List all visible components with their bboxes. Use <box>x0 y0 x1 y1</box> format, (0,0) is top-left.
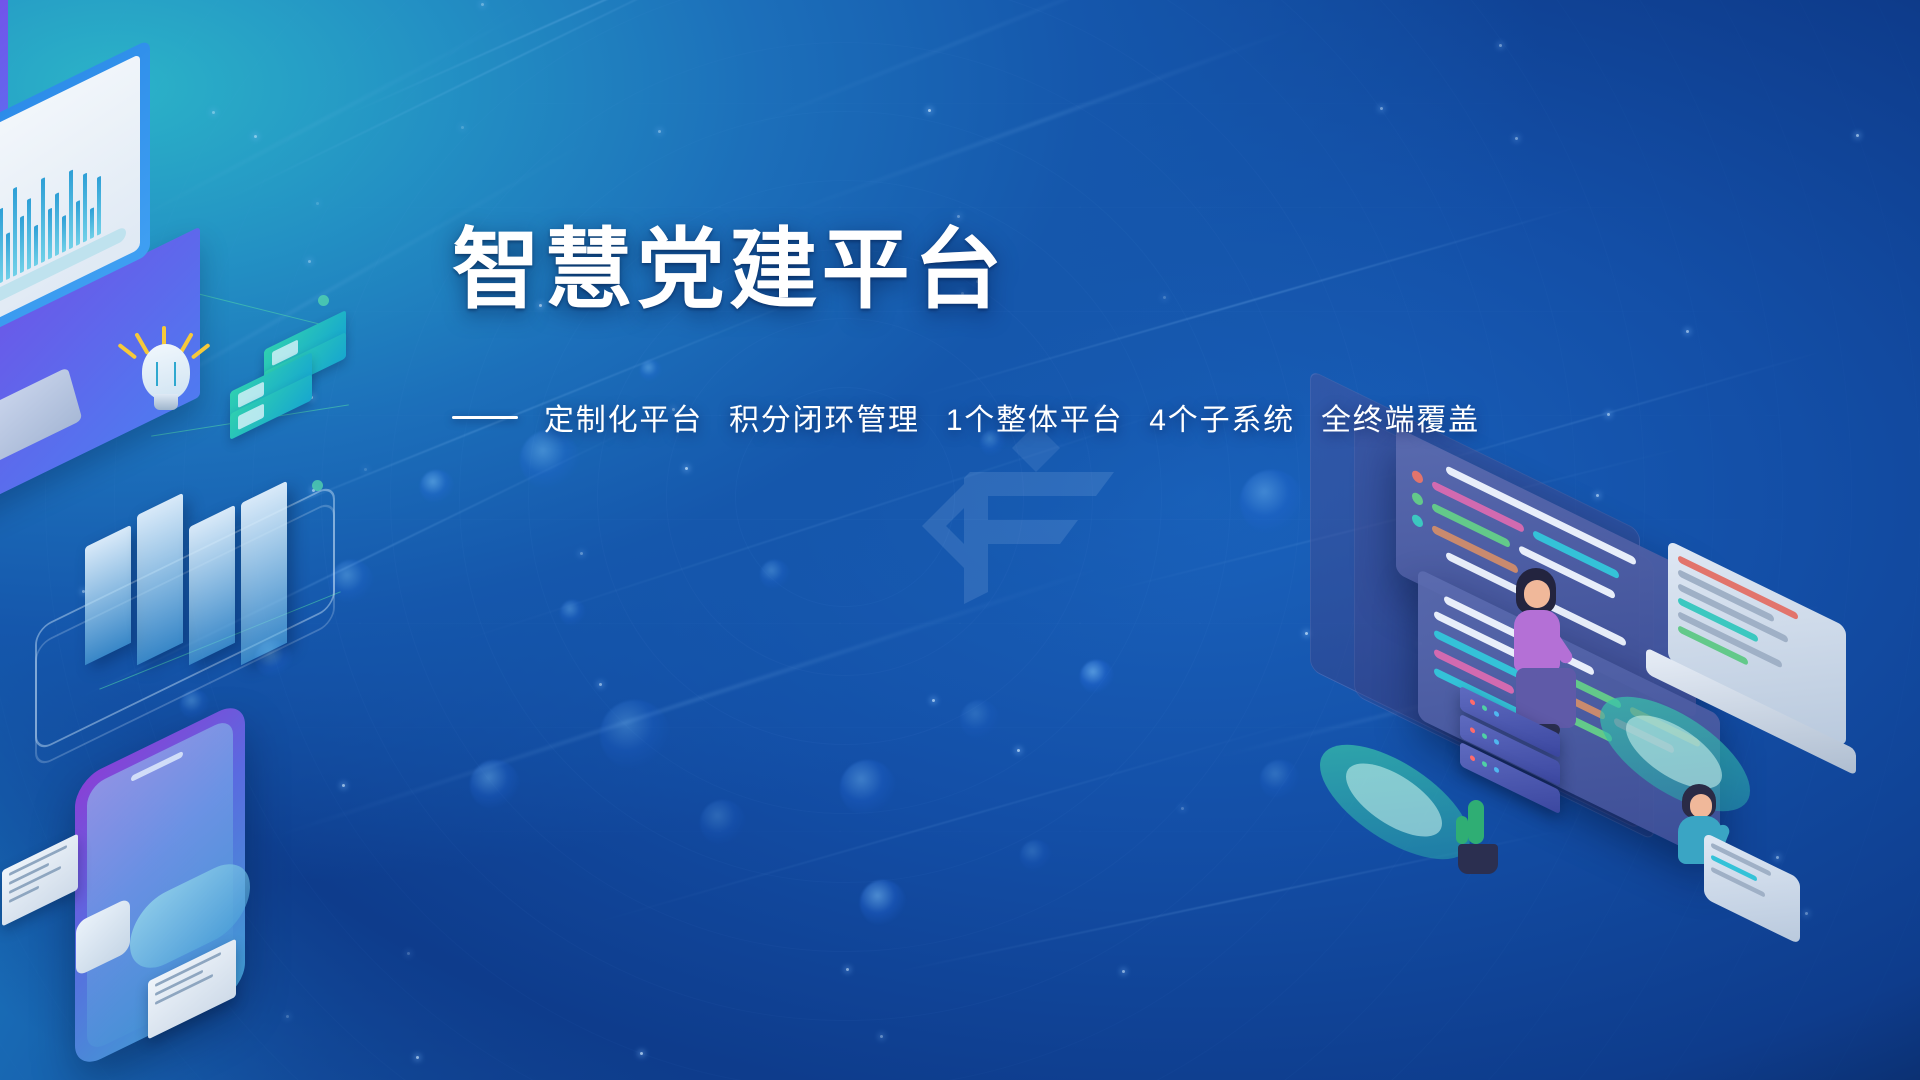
circuit-line <box>99 591 340 689</box>
round-platform <box>1600 673 1750 834</box>
spark-dot <box>957 215 960 218</box>
spark-dot <box>364 468 367 471</box>
dashboard-backdrop <box>1354 415 1654 841</box>
monitor-bar <box>97 176 101 236</box>
round-platform <box>1320 721 1470 882</box>
monitor-bar <box>27 198 31 270</box>
bokeh-dot <box>560 600 586 626</box>
spark-dot <box>1596 494 1599 497</box>
radar-ring <box>114 0 1576 1080</box>
laptop-keyboard <box>1646 647 1856 775</box>
spark-dot <box>1776 856 1779 859</box>
circuit-node <box>318 295 329 306</box>
monitor-bar <box>6 232 10 280</box>
isometric-bar-chart <box>35 480 355 730</box>
subtitle-item-2: 1个整体平台 <box>946 404 1123 437</box>
monitor-bar <box>13 187 17 277</box>
spark-dot <box>461 126 464 129</box>
spark-dot <box>316 202 319 205</box>
monitor-stand <box>0 367 82 493</box>
light-streak <box>213 0 807 206</box>
light-streak <box>342 0 818 117</box>
monitor-bar <box>62 215 66 253</box>
bokeh-dot <box>840 760 896 816</box>
bokeh-glow-dots <box>0 0 1920 1080</box>
bokeh-dot <box>330 560 374 604</box>
server-rack <box>1460 714 1560 787</box>
monitor-bar <box>69 169 73 249</box>
light-streak <box>1209 603 1831 761</box>
spark-dot <box>1515 137 1518 140</box>
bokeh-dot <box>180 690 210 720</box>
illustration-right <box>1300 380 1920 1080</box>
spark-dot <box>880 1035 883 1038</box>
light-streak <box>262 561 1119 842</box>
banner-stage: 智慧党建平台 定制化平台积分闭环管理1个整体平台4个子系统全终端覆盖 <box>0 0 1920 1080</box>
bokeh-dot <box>760 560 790 590</box>
spark-dot <box>286 1015 289 1018</box>
bokeh-dot <box>255 640 293 678</box>
radar-ring <box>321 0 1369 1021</box>
monitor-bar <box>90 207 94 239</box>
light-streak <box>718 0 1201 140</box>
radar-ring <box>45 0 1645 1080</box>
spark-dot <box>1856 134 1859 137</box>
spark-dot <box>82 590 85 593</box>
monitor-bar-chart <box>0 124 101 314</box>
mobile-phone <box>75 699 245 1072</box>
round-platform-inner <box>1346 749 1442 852</box>
monitor-bar <box>83 173 87 243</box>
radar-ring <box>0 0 1920 1080</box>
bokeh-dot <box>420 470 454 504</box>
spark-dot <box>846 968 849 971</box>
monitor-bar <box>76 200 80 246</box>
spark-dot <box>932 699 935 702</box>
radar-ring <box>183 0 1507 1080</box>
spark-dot <box>658 130 661 133</box>
light-streak <box>887 827 1572 974</box>
subtitle-item-4: 全终端覆盖 <box>1321 404 1480 437</box>
spark-dot <box>1419 642 1422 645</box>
hexagon-net-background <box>0 0 1920 1080</box>
monitor-bar <box>20 215 24 273</box>
chart-card <box>76 897 130 977</box>
radar-ring <box>0 0 1852 1080</box>
subtitle-item-3: 4个子系统 <box>1149 404 1295 437</box>
spark-dot <box>481 3 484 6</box>
spark-dot <box>308 260 311 263</box>
radar-rings-background <box>0 0 1920 1080</box>
idea-lightbulb <box>130 330 202 426</box>
subtitle-dash <box>452 416 518 419</box>
spark-dot <box>212 111 215 114</box>
round-platform-inner <box>1626 701 1722 804</box>
radar-ring <box>0 0 1783 1080</box>
radar-ring <box>0 0 1714 1080</box>
light-streak <box>776 24 1303 218</box>
monitor-bar <box>55 192 59 256</box>
dashboard-panel <box>1418 568 1720 865</box>
laptop-small-screen <box>1704 832 1800 945</box>
spark-dot <box>49 869 52 872</box>
spark-dot <box>75 865 78 868</box>
person-seated <box>1668 784 1748 904</box>
server-rack <box>1460 742 1560 815</box>
light-streaks <box>0 0 1920 1080</box>
dashboard-panel <box>1396 427 1696 719</box>
radar-ring <box>0 0 1920 1080</box>
spark-dot <box>312 489 315 492</box>
light-streak <box>575 713 1325 929</box>
spark-dot <box>1181 807 1184 810</box>
bokeh-dot <box>860 880 906 926</box>
circuit-node <box>312 480 323 491</box>
spark-dot <box>1380 107 1383 110</box>
person-presenting <box>1500 568 1590 768</box>
monitor-progress-bar <box>0 226 126 332</box>
server-rack <box>1460 686 1560 759</box>
info-card <box>148 939 236 1040</box>
spark-dot <box>640 1052 643 1055</box>
accent-shape <box>0 0 8 198</box>
server-stack <box>230 330 360 460</box>
bokeh-dot <box>700 800 746 846</box>
subtitle-row: 定制化平台积分闭环管理1个整体平台4个子系统全终端覆盖 <box>452 395 1512 439</box>
spark-dot <box>928 109 931 112</box>
spark-dot <box>1607 413 1610 416</box>
page-title: 智慧党建平台 <box>452 222 1512 317</box>
circuit-node <box>156 332 167 343</box>
spark-dot <box>1305 632 1308 635</box>
spark-dot <box>1805 912 1808 915</box>
circuit-line <box>151 404 349 436</box>
banner-copy: 智慧党建平台 定制化平台积分闭环管理1个整体平台4个子系统全终端覆盖 <box>452 222 1512 439</box>
bokeh-dot <box>1260 760 1300 800</box>
light-streak <box>1089 445 1691 596</box>
laptop-screen <box>1668 540 1846 747</box>
spark-dot <box>254 135 257 138</box>
monitor-bar <box>41 177 45 263</box>
spark-dot <box>599 683 602 686</box>
spark-dot <box>685 467 688 470</box>
potted-cactus <box>1448 800 1508 890</box>
circuit-line <box>113 272 336 329</box>
spark-dot <box>407 952 410 955</box>
monitor-bar <box>0 208 3 284</box>
light-streak <box>72 420 648 702</box>
spark-dot <box>1122 970 1125 973</box>
bokeh-dot <box>1020 840 1052 872</box>
radar-ring <box>390 42 1300 952</box>
monitor-bar <box>34 225 38 267</box>
spark-dot <box>416 1056 419 1059</box>
bokeh-dot <box>1080 660 1114 694</box>
spark-dot <box>1686 330 1689 333</box>
subtitle-text: 定制化平台积分闭环管理1个整体平台4个子系统全终端覆盖 <box>544 395 1480 439</box>
radar-ring <box>252 0 1438 1080</box>
bokeh-dot <box>600 700 670 770</box>
spark-dot <box>1499 44 1502 47</box>
bokeh-dot <box>960 700 1000 740</box>
analytics-monitor <box>0 39 150 366</box>
bokeh-dot <box>1240 470 1304 534</box>
illustration-left <box>0 0 400 1080</box>
subtitle-item-0: 定制化平台 <box>544 404 703 437</box>
monitor-desk <box>0 227 200 524</box>
bokeh-dot <box>150 840 186 876</box>
info-card <box>2 833 78 926</box>
monitor-bar <box>48 208 52 260</box>
spark-dot <box>1017 749 1020 752</box>
monitor-screen <box>0 54 140 351</box>
spark-dot <box>580 552 583 555</box>
spark-dot <box>310 396 313 399</box>
cloud-storage <box>130 851 250 982</box>
spark-dot <box>342 784 345 787</box>
subtitle-item-1: 积分闭环管理 <box>729 404 920 437</box>
light-streak <box>90 0 551 245</box>
bokeh-dot <box>470 760 520 810</box>
